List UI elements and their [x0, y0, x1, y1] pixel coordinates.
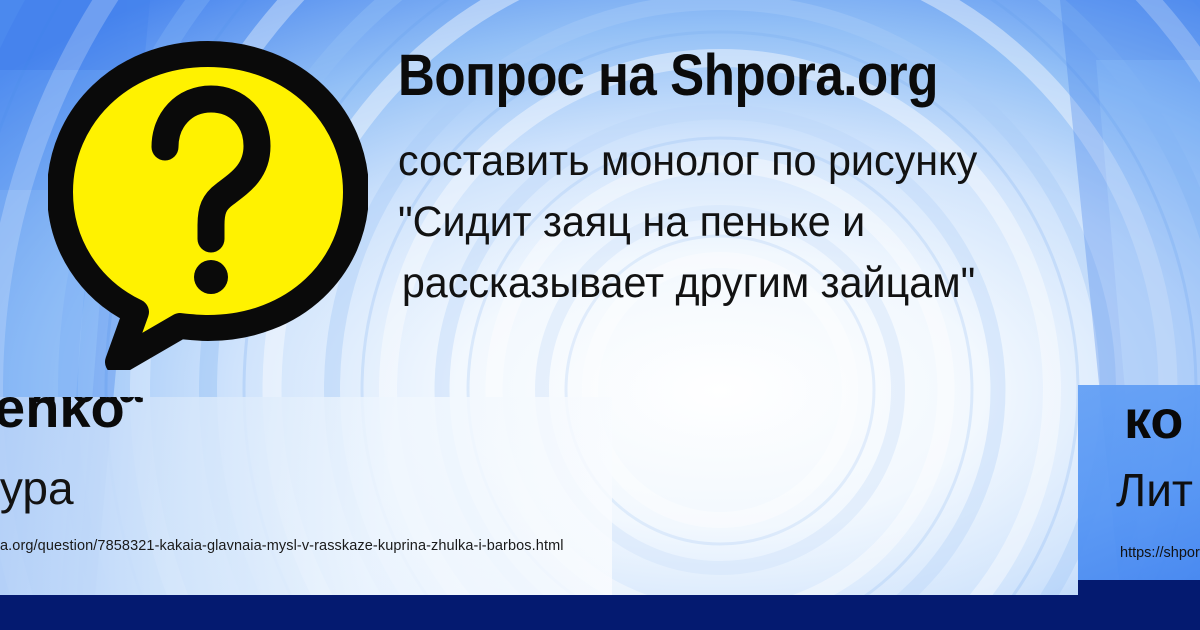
overlay-left-subject: тература [0, 461, 74, 515]
overlay-right-url: https://shpora [1120, 545, 1200, 561]
footer-bar-right-step [1078, 580, 1200, 630]
question-body-line-2: "Сидит заяц на пеньке и [398, 192, 1156, 253]
social-share-card: Вопрос на Shpora.org составить монолог п… [0, 0, 1200, 630]
question-speech-bubble-icon [48, 40, 368, 370]
footer-bar-left [0, 595, 1200, 630]
page-title: Вопрос на Shpora.org [398, 44, 1093, 109]
overlay-card-left: Жока ovalenko тература a.org/question/78… [0, 397, 612, 597]
question-body-line-1: составить монолог по рисунку [398, 131, 1156, 192]
question-text-column: Вопрос на Shpora.org составить монолог п… [398, 44, 1188, 314]
overlay-right-author: ко [1124, 389, 1183, 451]
footer-bar [0, 594, 1200, 630]
overlay-left-url: a.org/question/7858321-kakaia-glavnaia-m… [0, 538, 564, 554]
question-card-main: Вопрос на Shpora.org составить монолог п… [0, 0, 1200, 400]
question-body-line-3: рассказывает другим зайцам" [398, 253, 1156, 314]
overlay-left-author-front: ovalenko [0, 397, 125, 440]
question-body: составить монолог по рисунку "Сидит заяц… [398, 131, 1156, 314]
overlay-card-right: ко Лит https://shpora [1078, 385, 1200, 582]
overlay-right-subject: Лит [1116, 463, 1193, 517]
